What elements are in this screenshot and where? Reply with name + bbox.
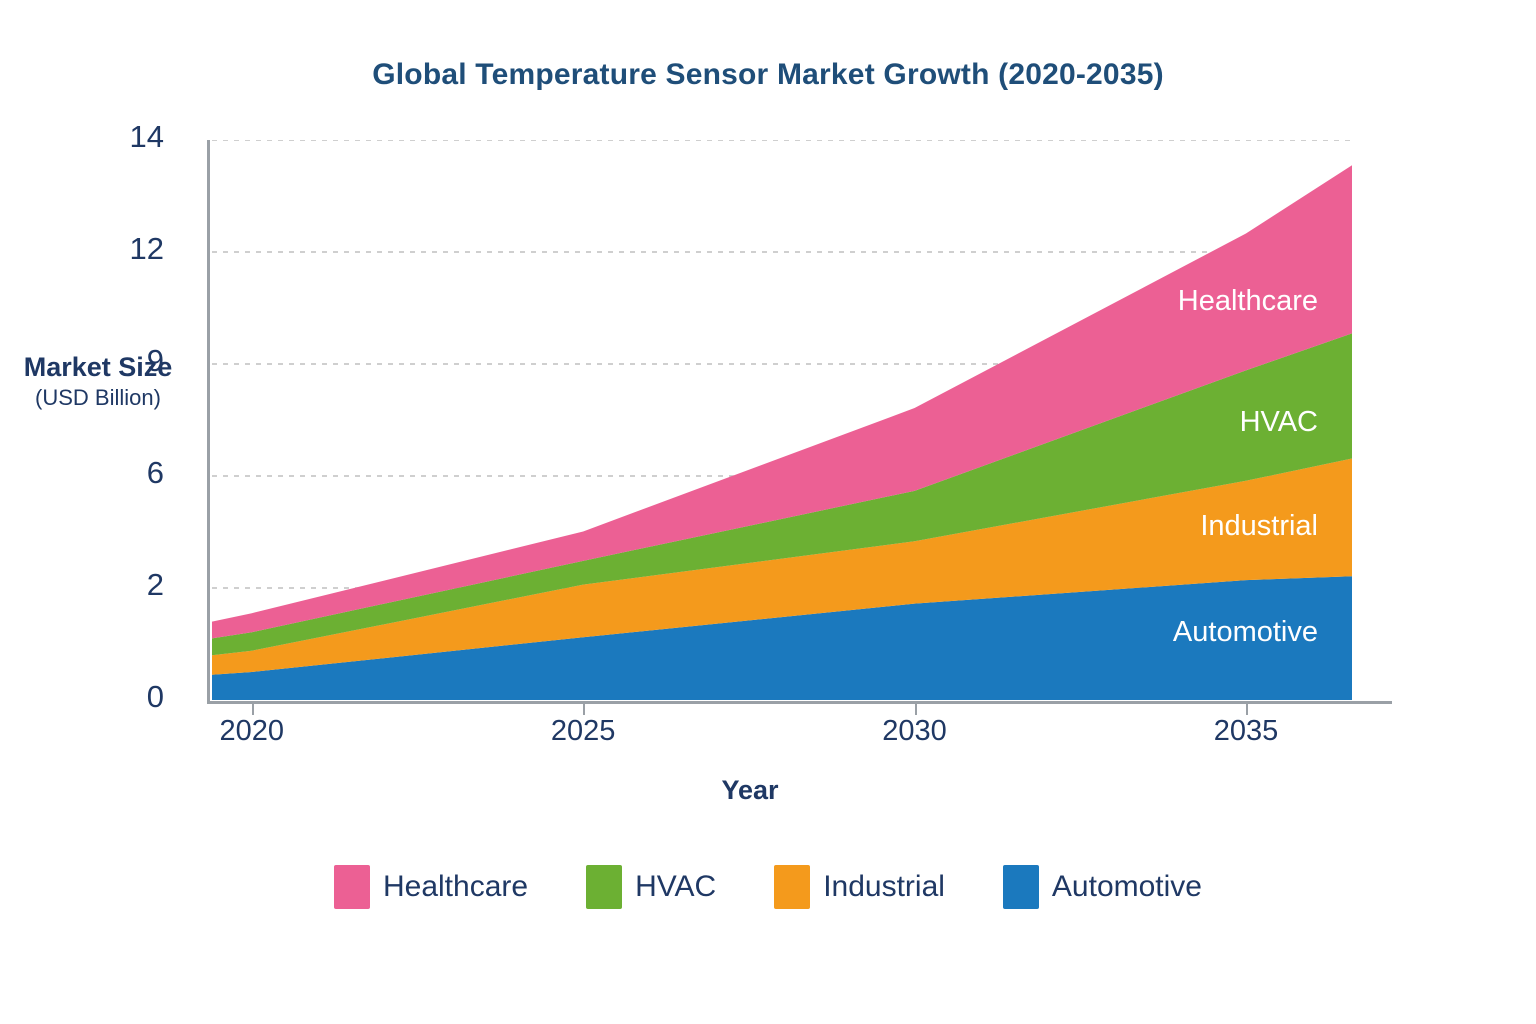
legend-label: Automotive xyxy=(1052,870,1202,904)
inline-label-automotive: Automotive xyxy=(1173,616,1318,649)
legend-item-healthcare[interactable]: Healthcare xyxy=(334,865,528,909)
legend-swatch-hvac xyxy=(586,865,622,909)
y-tick-label: 12 xyxy=(44,231,164,267)
y-tick-label: 9 xyxy=(44,343,164,379)
x-tick-mark xyxy=(915,701,917,715)
x-tick-label: 2025 xyxy=(513,715,653,748)
y-tick-label: 2 xyxy=(44,567,164,603)
y-axis-line xyxy=(207,140,210,702)
legend-item-hvac[interactable]: HVAC xyxy=(586,865,716,909)
legend-item-industrial[interactable]: Industrial xyxy=(774,865,945,909)
y-axis-label-units: (USD Billion) xyxy=(18,385,178,411)
legend-swatch-automotive xyxy=(1003,865,1039,909)
inline-label-hvac: HVAC xyxy=(1240,406,1318,439)
legend-swatch-healthcare xyxy=(334,865,370,909)
legend-item-automotive[interactable]: Automotive xyxy=(1003,865,1202,909)
legend-label: Healthcare xyxy=(383,870,528,904)
legend-swatch-industrial xyxy=(774,865,810,909)
x-tick-label: 2035 xyxy=(1176,715,1316,748)
y-tick-label: 6 xyxy=(44,455,164,491)
legend-label: Industrial xyxy=(823,870,945,904)
y-tick-label: 14 xyxy=(44,119,164,155)
x-tick-mark xyxy=(583,701,585,715)
inline-label-healthcare: Healthcare xyxy=(1178,285,1318,318)
y-tick-label: 0 xyxy=(44,679,164,715)
chart-title: Global Temperature Sensor Market Growth … xyxy=(0,58,1536,92)
x-tick-mark xyxy=(252,701,254,715)
x-tick-label: 2020 xyxy=(182,715,322,748)
inline-label-industrial: Industrial xyxy=(1200,510,1318,543)
x-tick-label: 2030 xyxy=(845,715,985,748)
chart-canvas: Global Temperature Sensor Market Growth … xyxy=(0,0,1536,1024)
x-axis-label: Year xyxy=(640,775,860,806)
x-axis-line xyxy=(207,701,1392,704)
x-tick-mark xyxy=(1246,701,1248,715)
legend-label: HVAC xyxy=(635,870,716,904)
chart-legend: HealthcareHVACIndustrialAutomotive xyxy=(0,865,1536,909)
